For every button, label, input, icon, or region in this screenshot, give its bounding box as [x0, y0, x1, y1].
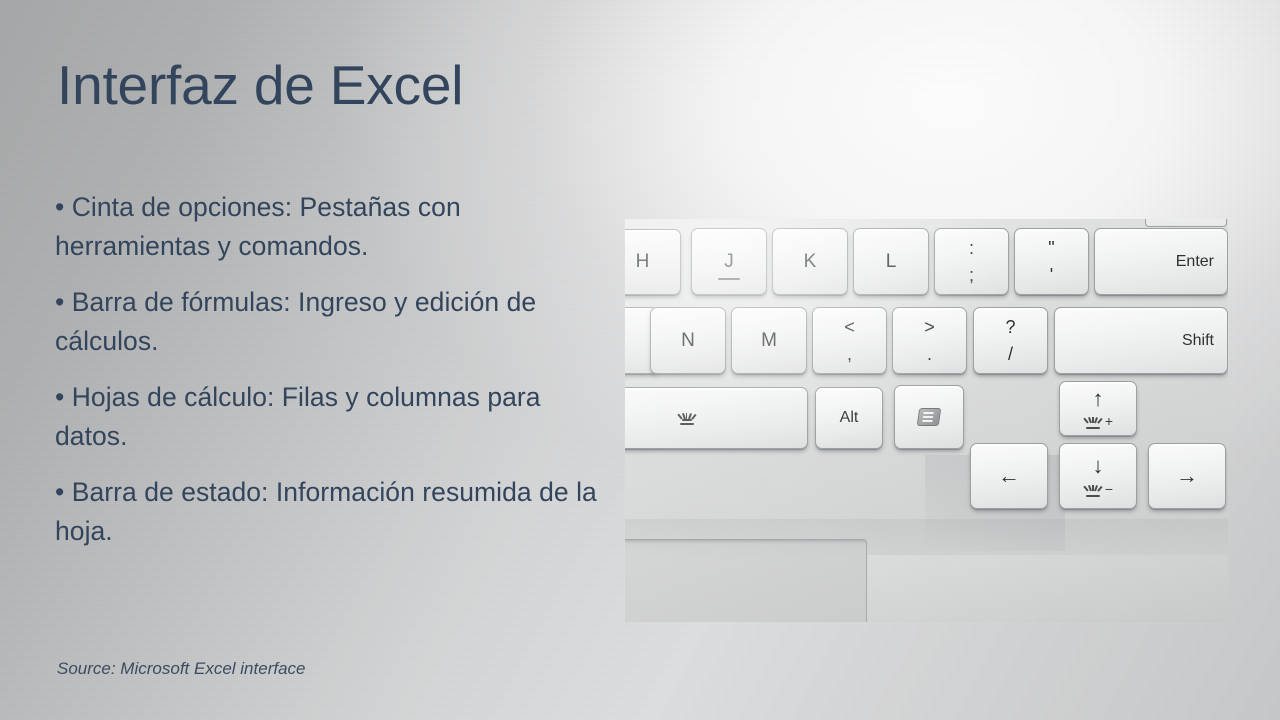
key-label: H	[636, 251, 650, 273]
context-menu-icon	[917, 408, 942, 426]
list-item: • Hojas de cálculo: Filas y columnas par…	[55, 378, 615, 455]
backlight-increase-icon: +	[1083, 414, 1113, 429]
key-n: N	[650, 307, 726, 374]
key-label-bottom: ,	[847, 345, 852, 363]
keyboard-photo: H J K L : ; " ' Enter N M	[625, 219, 1228, 622]
key-label-top: "	[1048, 239, 1054, 257]
list-item: • Cinta de opciones: Pestañas con herram…	[55, 188, 615, 265]
key-arrow-right: →	[1148, 443, 1226, 509]
backlight-decrease-icon: −	[1083, 482, 1113, 497]
key-arrow-down: ↓ −	[1059, 443, 1137, 509]
page-title: Interfaz de Excel	[57, 57, 463, 115]
bullet-list: • Cinta de opciones: Pestañas con herram…	[55, 188, 615, 550]
key-j: J	[691, 228, 767, 295]
key-label: J	[724, 251, 734, 273]
key-l: L	[853, 228, 929, 295]
clipped-key-row	[1145, 219, 1227, 227]
key-k: K	[772, 228, 848, 295]
backlight-icon	[677, 412, 697, 425]
key-label-bottom: /	[1008, 345, 1013, 363]
key-label-top: >	[924, 318, 935, 336]
key-label-top: <	[844, 318, 855, 336]
key-alt: Alt	[815, 387, 883, 449]
homing-bar-icon	[718, 278, 740, 280]
arrow-down-icon: ↓	[1093, 455, 1104, 477]
key-enter: Enter	[1094, 228, 1228, 295]
key-arrow-up: ↑ +	[1059, 381, 1137, 436]
key-shift: Shift	[1054, 307, 1228, 374]
key-label: L	[886, 251, 897, 273]
backlight-minus-label: −	[1105, 482, 1113, 496]
key-label: N	[681, 330, 695, 352]
slide: Interfaz de Excel • Cinta de opciones: P…	[0, 0, 1280, 720]
key-label: M	[761, 330, 777, 352]
key-slash: ? /	[973, 307, 1048, 374]
key-context-menu	[894, 385, 964, 449]
arrow-left-icon: ←	[998, 465, 1020, 487]
backlight-plus-label: +	[1105, 414, 1113, 428]
list-item: • Barra de estado: Información resumida …	[55, 473, 615, 550]
source-caption: Source: Microsoft Excel interface	[57, 659, 305, 679]
arrow-right-icon: →	[1176, 465, 1198, 487]
key-label-bottom: '	[1050, 266, 1053, 284]
key-m: M	[731, 307, 807, 374]
trackpad	[625, 539, 867, 622]
key-semicolon: : ;	[934, 228, 1009, 295]
key-label-top: ?	[1005, 318, 1015, 336]
key-label: K	[804, 251, 817, 273]
key-label: Enter	[1176, 253, 1214, 271]
key-label-top: :	[969, 239, 974, 257]
key-spacebar	[625, 387, 808, 449]
key-quote: " '	[1014, 228, 1089, 295]
key-label: Alt	[840, 409, 859, 427]
key-arrow-left: ←	[970, 443, 1048, 509]
arrow-up-icon: ↑	[1093, 388, 1104, 410]
key-label: Shift	[1182, 332, 1214, 350]
key-h: H	[625, 229, 681, 295]
key-label-bottom: .	[927, 345, 932, 363]
list-item: • Barra de fórmulas: Ingreso y edición d…	[55, 283, 615, 360]
key-period: > .	[892, 307, 967, 374]
key-comma: < ,	[812, 307, 887, 374]
key-label-bottom: ;	[969, 266, 974, 284]
